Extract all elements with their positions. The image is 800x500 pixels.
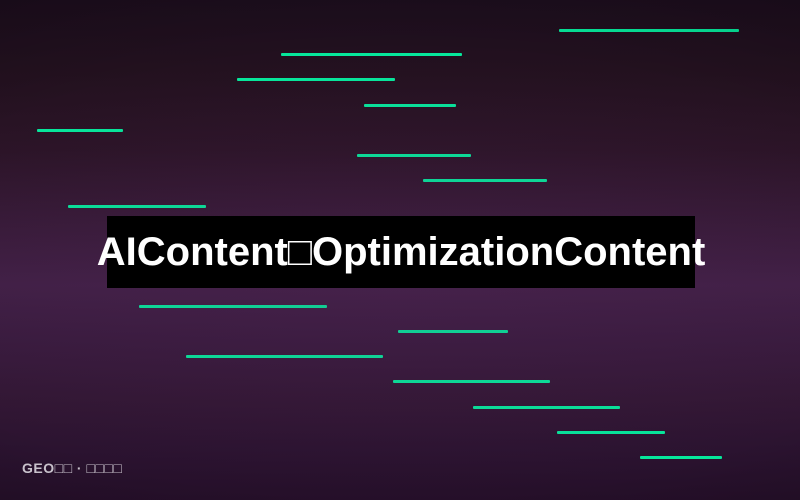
decorative-line [37, 129, 123, 132]
decorative-line [357, 154, 471, 157]
decorative-line [559, 29, 739, 32]
decorative-line [423, 179, 547, 182]
title-banner: AIContent□OptimizationContent [107, 216, 695, 288]
decorative-line [557, 431, 665, 434]
decorative-line [68, 205, 206, 208]
decorative-line [237, 78, 395, 81]
footer-brand-label: GEO□□ · □□□□ [22, 460, 122, 476]
decorative-line [186, 355, 383, 358]
page-title: AIContent□OptimizationContent [97, 232, 706, 272]
decorative-line [281, 53, 462, 56]
decorative-line [640, 456, 722, 459]
decorative-line [398, 330, 508, 333]
decorative-line [139, 305, 327, 308]
decorative-line [473, 406, 620, 409]
cover-canvas: AIContent□OptimizationContent GEO□□ · □□… [0, 0, 800, 500]
decorative-line [393, 380, 550, 383]
decorative-line [364, 104, 456, 107]
